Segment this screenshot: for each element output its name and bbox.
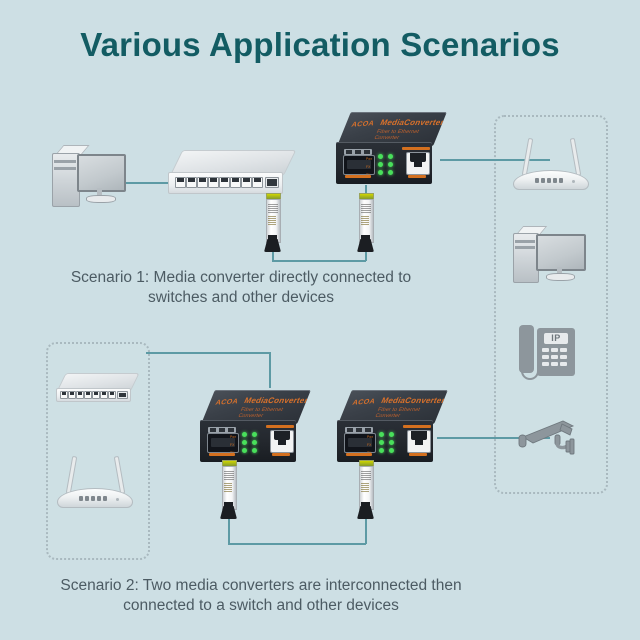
sfp-barcode	[361, 216, 369, 225]
fiber-span-1	[272, 260, 366, 262]
cctv-camera-endpoint	[515, 415, 581, 459]
converter-front-panel: PwrFXTX	[337, 420, 433, 462]
pc-monitor-base	[86, 195, 116, 203]
converter-rj45-top-label	[266, 425, 294, 428]
sfp-barcode	[361, 483, 369, 492]
led-indicator	[252, 448, 257, 453]
converter-brand-top: MediaConverter	[380, 396, 447, 405]
converter-front-panel: PwrFXTX	[200, 420, 296, 462]
converter-brand-sub: Fiber to Ethernet Converter	[374, 407, 441, 419]
converter-led-labels: PwrFXTX	[366, 155, 378, 179]
switch-sfp-slot	[265, 177, 279, 188]
switch-port	[230, 177, 241, 188]
switch-port	[92, 391, 100, 399]
pc-monitor-screen	[77, 154, 126, 192]
sfp-module-left-scenario-2	[220, 466, 237, 522]
pc-monitor-base	[546, 273, 575, 281]
fiber-span-2	[228, 543, 366, 545]
wifi-router-source	[55, 456, 133, 508]
converter-brand-side: ACOA	[350, 120, 375, 129]
led-indicator	[389, 440, 394, 445]
converter-rj45-label	[272, 453, 290, 456]
led-indicator	[242, 432, 247, 437]
converter-front-panel: PwrFXTX	[336, 142, 432, 184]
sfp-label	[224, 470, 234, 480]
sfp-module-converter-side	[357, 199, 374, 255]
switch-port	[84, 391, 92, 399]
scenario-2-caption: Scenario 2: Two media converters are int…	[36, 576, 486, 616]
converter-rj45-label	[409, 453, 427, 456]
converter-status-leds	[242, 432, 264, 454]
sfp-label	[361, 203, 371, 213]
converter-brand-side: ACOA	[214, 398, 239, 407]
sfp-module-switch-side	[264, 199, 281, 255]
converter-rj45-top-label	[402, 147, 430, 150]
led-indicator	[378, 154, 383, 159]
switch-port	[197, 177, 208, 188]
router-antenna	[66, 456, 78, 494]
link-sourcegroup-drop	[269, 352, 271, 388]
converter-status-leds	[378, 154, 400, 176]
pc-drive-bay	[54, 160, 76, 163]
switch-port	[186, 177, 197, 188]
led-indicator	[242, 440, 247, 445]
converter-top-shell: ACOA MediaConverter Fiber to Ethernet Co…	[338, 390, 448, 424]
diagram-canvas: Various Application Scenarios Scenario 1…	[0, 0, 640, 640]
router-power-dot	[116, 498, 119, 501]
converter-top-shell: ACOA MediaConverter Fiber to Ethernet Co…	[201, 390, 311, 424]
led-indicator	[378, 170, 383, 175]
switch-sfp-slot	[117, 391, 128, 399]
led-indicator	[379, 440, 384, 445]
router-antenna	[570, 138, 582, 176]
network-switch-source	[56, 373, 136, 409]
converter-brand-top: MediaConverter	[379, 118, 446, 127]
page-title: Various Application Scenarios	[0, 26, 640, 64]
sfp-barcode	[224, 483, 232, 492]
media-converter-left-scenario-2: ACOA MediaConverter Fiber to Ethernet Co…	[200, 390, 304, 462]
desktop-computer-endpoint	[513, 224, 585, 286]
converter-brand-sub: Fiber to Ethernet Converter	[373, 129, 440, 141]
switch-port	[76, 391, 84, 399]
pc-drive-bay	[515, 246, 535, 249]
link-sourcegroup-to-converter	[146, 352, 270, 354]
converter-brand-sub: Fiber to Ethernet Converter	[237, 407, 304, 419]
led-indicator	[388, 154, 393, 159]
converter-rj45-top-label	[403, 425, 431, 428]
media-converter-scenario-1: ACOA MediaConverter Fiber to Ethernet Co…	[336, 112, 440, 184]
converter-top-shell: ACOA MediaConverter Fiber to Ethernet Co…	[337, 112, 447, 146]
desktop-computer-scenario-1	[52, 142, 122, 208]
converter-led-labels: PwrFXTX	[367, 433, 379, 457]
ip-phone-endpoint: IP	[519, 325, 575, 383]
converter-brand-side: ACOA	[351, 398, 376, 407]
phone-keypad	[542, 348, 570, 369]
led-indicator	[388, 162, 393, 167]
converter-brand-top: MediaConverter	[243, 396, 310, 405]
media-converter-right-scenario-2: ACOA MediaConverter Fiber to Ethernet Co…	[337, 390, 441, 462]
pc-drive-bay	[515, 240, 535, 243]
router-indicator-leds	[79, 496, 107, 501]
converter-rj45-label	[408, 175, 426, 178]
led-indicator	[389, 448, 394, 453]
converter-rj45-port	[270, 430, 294, 453]
phone-handset	[519, 325, 534, 373]
converter-led-labels: PwrFXTX	[230, 433, 242, 457]
sfp-module-right-scenario-2	[357, 466, 374, 522]
switch-port	[60, 391, 68, 399]
switch-port	[219, 177, 230, 188]
sfp-label	[361, 470, 371, 480]
scenario-1-caption: Scenario 1: Media converter directly con…	[36, 268, 446, 308]
led-indicator	[379, 432, 384, 437]
switch-port	[100, 391, 108, 399]
pc-drive-bay	[54, 167, 76, 170]
led-indicator	[378, 162, 383, 167]
switch-port	[252, 177, 263, 188]
led-indicator	[379, 448, 384, 453]
camera-svg	[515, 415, 581, 459]
sfp-barcode	[268, 216, 276, 225]
led-indicator	[252, 432, 257, 437]
led-indicator	[388, 170, 393, 175]
switch-port	[208, 177, 219, 188]
router-antenna	[522, 138, 534, 176]
router-antenna	[114, 456, 126, 494]
converter-rj45-port	[407, 430, 431, 453]
phone-display: IP	[544, 333, 568, 344]
led-indicator	[252, 440, 257, 445]
sfp-label	[268, 203, 278, 213]
pc-monitor-screen	[536, 234, 586, 271]
switch-port	[108, 391, 116, 399]
converter-rj45-port	[406, 152, 430, 175]
switch-port	[175, 177, 186, 188]
led-indicator	[242, 448, 247, 453]
switch-port	[68, 391, 76, 399]
router-indicator-leds	[535, 178, 563, 183]
wifi-router-endpoint	[511, 138, 589, 190]
switch-port	[241, 177, 252, 188]
converter-status-leds	[379, 432, 401, 454]
led-indicator	[389, 432, 394, 437]
router-power-dot	[572, 180, 575, 183]
